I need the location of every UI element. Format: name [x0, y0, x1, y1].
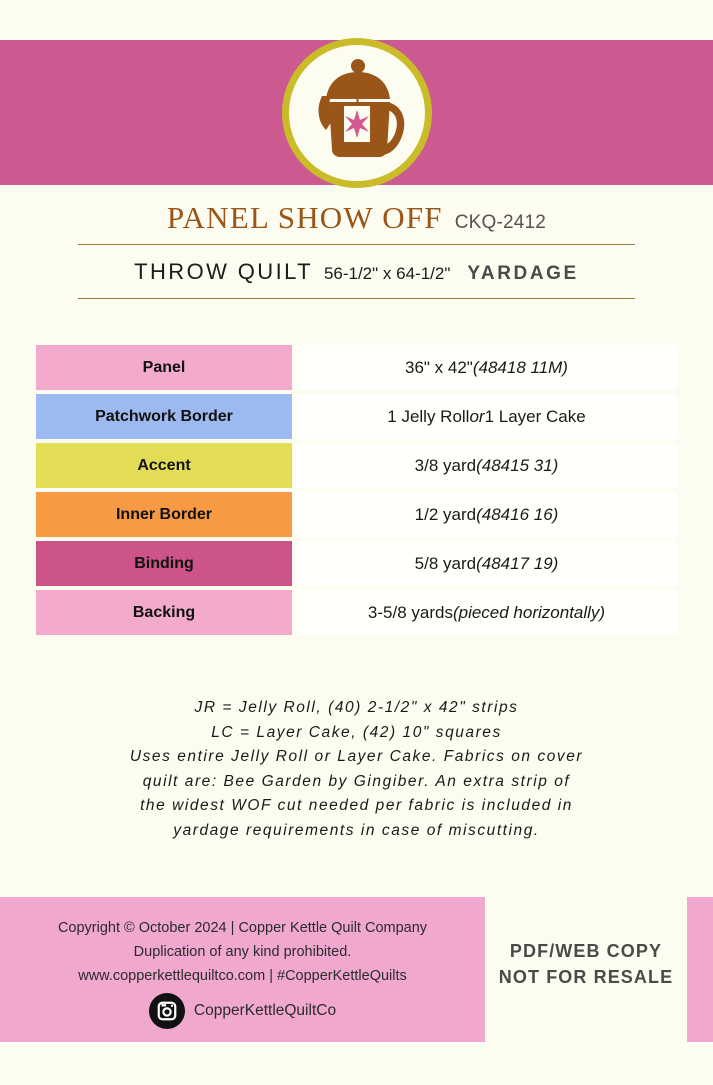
notice-line-2: NOT FOR RESALE — [485, 964, 687, 990]
yardage-table: Panel36" x 42" (48418 11M)Patchwork Bord… — [36, 345, 677, 639]
copyright-line: Copyright © October 2024 | Copper Kettle… — [0, 916, 485, 940]
pattern-notes: JR = Jelly Roll, (40) 2-1/2" x 42" strip… — [50, 696, 663, 843]
fabric-label-swatch: Backing — [36, 590, 292, 635]
note-line-6: yardage requirements in case of miscutti… — [50, 819, 663, 844]
pattern-code: CKQ-2412 — [455, 212, 546, 234]
fabric-amount-cell: 1 Jelly Roll or 1 Layer Cake — [296, 394, 677, 439]
page-title: PANEL SHOW OFF — [167, 200, 443, 236]
fabric-amount-cell: 3-5/8 yards (pieced horizontally) — [296, 590, 677, 635]
note-line-5: the widest WOF cut needed per fabric is … — [50, 794, 663, 819]
fabric-label-swatch: Panel — [36, 345, 292, 390]
title-rule-bottom — [78, 298, 635, 299]
instagram-row[interactable]: CopperKettleQuiltCo — [0, 993, 485, 1029]
title-block: PANEL SHOW OFF CKQ-2412 THROW QUILT 56-1… — [78, 200, 635, 299]
quilt-type: THROW QUILT — [134, 259, 313, 285]
footer-copyright-block: Copyright © October 2024 | Copper Kettle… — [0, 916, 485, 988]
table-row: Backing3-5/8 yards (pieced horizontally) — [36, 590, 677, 635]
fabric-label-swatch: Inner Border — [36, 492, 292, 537]
fabric-amount-cell: 36" x 42" (48418 11M) — [296, 345, 677, 390]
table-row: Binding5/8 yard (48417 19) — [36, 541, 677, 586]
instagram-icon[interactable] — [149, 993, 185, 1029]
note-line-lc: LC = Layer Cake, (42) 10" squares — [50, 721, 663, 746]
header-band — [0, 40, 713, 185]
pattern-title-row: PANEL SHOW OFF CKQ-2412 — [78, 200, 635, 244]
brand-logo — [282, 38, 432, 188]
resale-notice: PDF/WEB COPY NOT FOR RESALE — [485, 938, 687, 990]
teapot-logo-icon — [282, 38, 432, 188]
duplication-line: Duplication of any kind prohibited. — [0, 940, 485, 964]
notice-line-1: PDF/WEB COPY — [485, 938, 687, 964]
website-line[interactable]: www.copperkettlequiltco.com | #CopperKet… — [0, 964, 485, 988]
fabric-amount-cell: 5/8 yard (48417 19) — [296, 541, 677, 586]
fabric-amount-cell: 3/8 yard (48415 31) — [296, 443, 677, 488]
note-line-3: Uses entire Jelly Roll or Layer Cake. Fa… — [50, 745, 663, 770]
note-line-4: quilt are: Bee Garden by Gingiber. An ex… — [50, 770, 663, 795]
table-row: Panel36" x 42" (48418 11M) — [36, 345, 677, 390]
fabric-label-swatch: Binding — [36, 541, 292, 586]
quilt-spec-row: THROW QUILT 56-1/2" x 64-1/2" YARDAGE — [78, 245, 635, 298]
section-label-yardage: YARDAGE — [467, 263, 578, 285]
footer-band-right — [687, 897, 713, 1042]
fabric-label-swatch: Accent — [36, 443, 292, 488]
table-row: Accent3/8 yard (48415 31) — [36, 443, 677, 488]
table-row: Patchwork Border1 Jelly Roll or 1 Layer … — [36, 394, 677, 439]
note-line-jr: JR = Jelly Roll, (40) 2-1/2" x 42" strip… — [50, 696, 663, 721]
table-row: Inner Border1/2 yard (48416 16) — [36, 492, 677, 537]
quilt-size: 56-1/2" x 64-1/2" — [324, 264, 450, 284]
fabric-label-swatch: Patchwork Border — [36, 394, 292, 439]
fabric-amount-cell: 1/2 yard (48416 16) — [296, 492, 677, 537]
instagram-handle: CopperKettleQuiltCo — [194, 1002, 336, 1020]
